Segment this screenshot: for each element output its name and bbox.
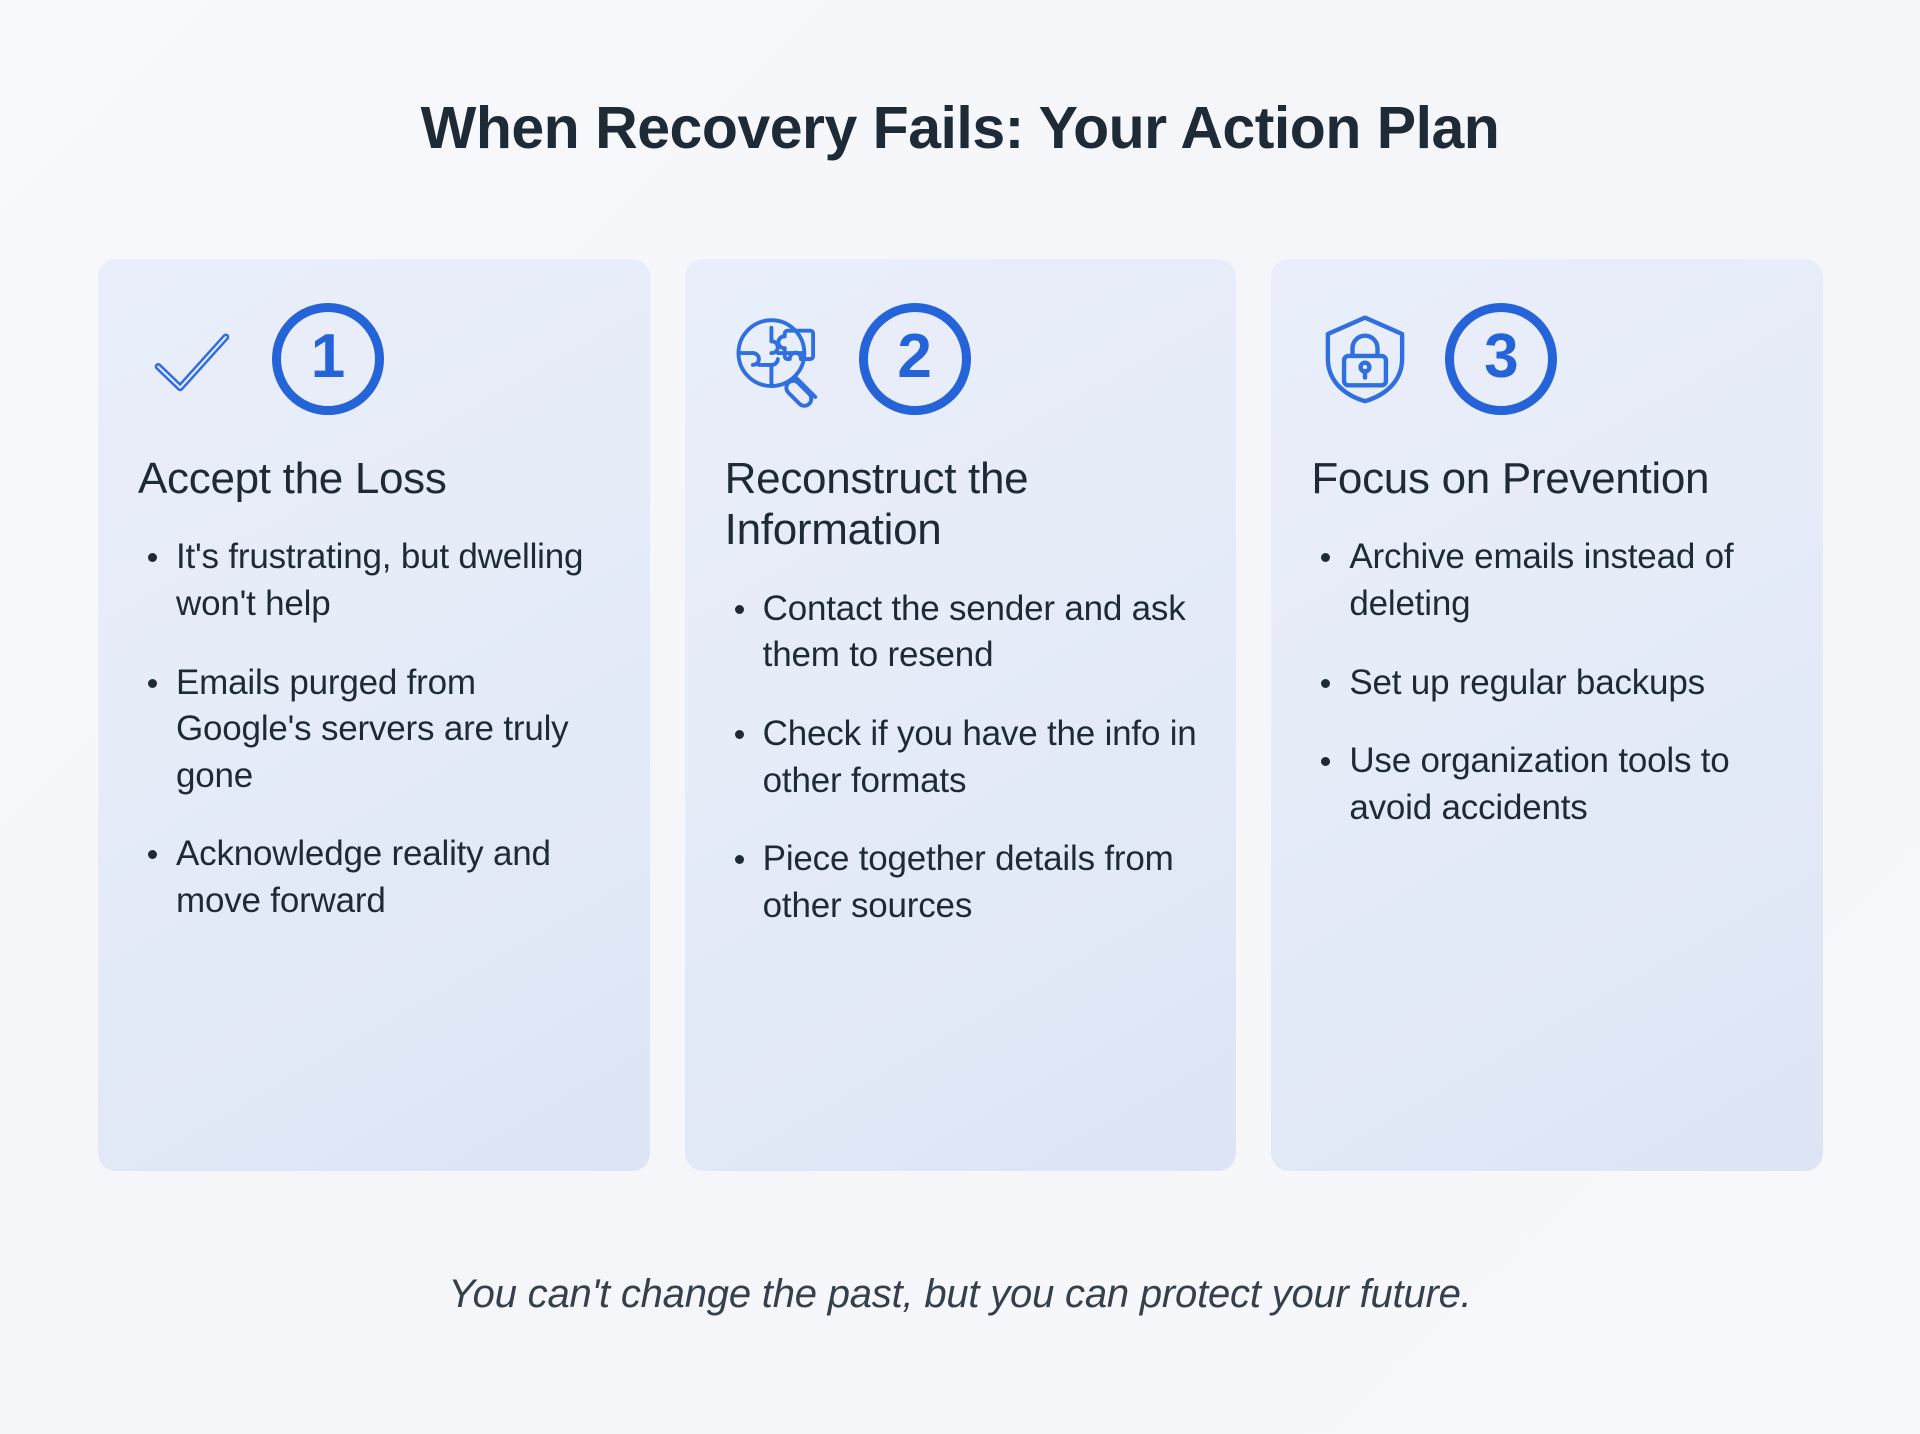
card-1-heading: Accept the Loss <box>132 453 568 504</box>
list-item: Emails purged from Google's servers are … <box>132 660 616 800</box>
card-2-number-badge: 2 <box>859 303 971 415</box>
cards-row: 1 Accept the Loss It's frustrating, but … <box>98 259 1823 1171</box>
card-1-number-badge: 1 <box>272 303 384 415</box>
footer-quote: You can't change the past, but you can p… <box>0 1272 1920 1317</box>
card-step-3: 3 Focus on Prevention Archive emails ins… <box>1271 259 1823 1171</box>
infographic-page: When Recovery Fails: Your Action Plan 1 … <box>0 0 1920 1434</box>
list-item: It's frustrating, but dwelling won't hel… <box>132 534 616 627</box>
card-1-bullet-list: It's frustrating, but dwelling won't hel… <box>132 534 616 924</box>
checkmark-icon <box>138 305 246 413</box>
card-3-bullet-list: Archive emails instead of deleting Set u… <box>1305 534 1789 831</box>
shield-lock-icon <box>1311 305 1419 413</box>
card-step-1: 1 Accept the Loss It's frustrating, but … <box>98 259 650 1171</box>
list-item: Contact the sender and ask them to resen… <box>719 586 1203 679</box>
card-1-number: 1 <box>311 326 345 388</box>
list-item: Archive emails instead of deleting <box>1305 534 1789 627</box>
list-item: Set up regular backups <box>1305 660 1789 707</box>
card-2-icon-row: 2 <box>719 293 1203 425</box>
list-item: Use organization tools to avoid accident… <box>1305 738 1789 831</box>
list-item: Acknowledge reality and move forward <box>132 831 616 924</box>
card-step-2: 2 Reconstruct the Information Contact th… <box>685 259 1237 1171</box>
card-3-number-badge: 3 <box>1445 303 1557 415</box>
puzzle-magnifier-icon <box>725 305 833 413</box>
card-2-bullet-list: Contact the sender and ask them to resen… <box>719 586 1203 929</box>
card-1-icon-row: 1 <box>132 293 616 425</box>
page-title: When Recovery Fails: Your Action Plan <box>0 96 1920 161</box>
card-3-number: 3 <box>1484 326 1518 388</box>
card-2-number: 2 <box>897 326 931 388</box>
card-3-icon-row: 3 <box>1305 293 1789 425</box>
card-2-heading: Reconstruct the Information <box>719 453 1155 556</box>
card-3-heading: Focus on Prevention <box>1305 453 1741 504</box>
list-item: Piece together details from other source… <box>719 836 1203 929</box>
list-item: Check if you have the info in other form… <box>719 711 1203 804</box>
